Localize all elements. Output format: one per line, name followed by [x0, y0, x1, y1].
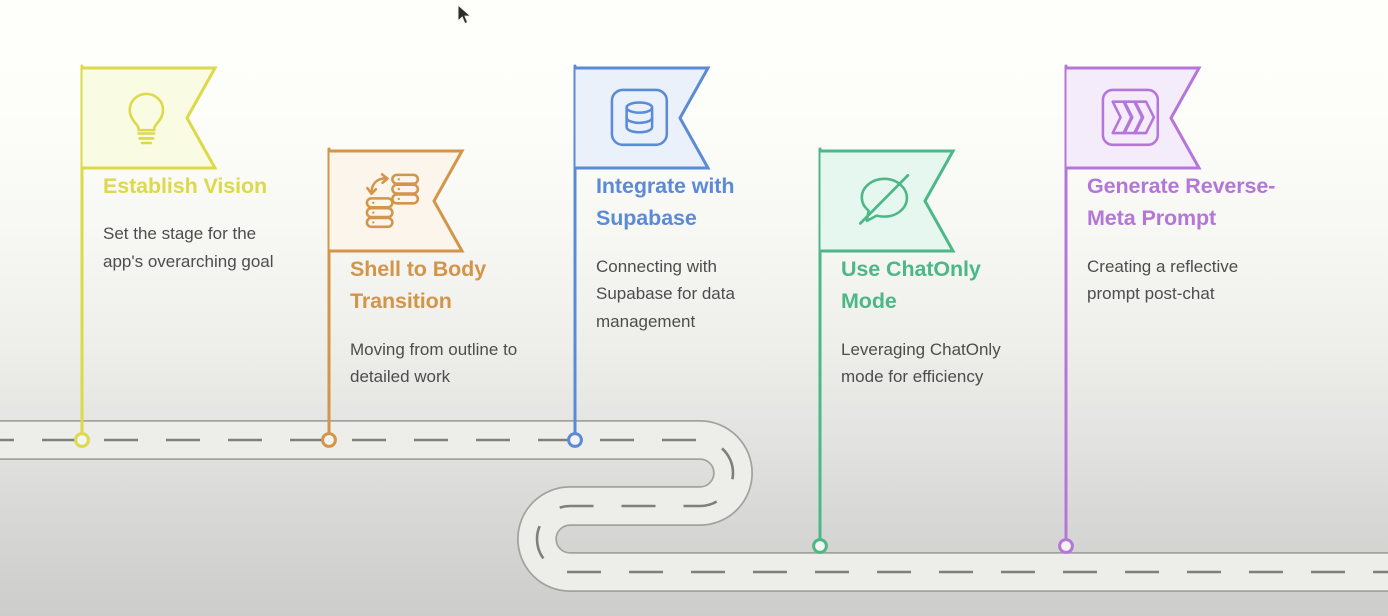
milestone-description: Creating a reflective prompt post-chat [1065, 253, 1280, 308]
milestone-description: Connecting with Supabase for data manage… [574, 253, 789, 336]
milestone-title: Use ChatOnly Mode [819, 253, 1034, 318]
road-marker[interactable] [323, 434, 336, 447]
milestone-use-chatonly-mode[interactable]: Use ChatOnly ModeLeveraging ChatOnly mod… [819, 149, 1034, 391]
milestone-establish-vision[interactable]: Establish VisionSet the stage for the ap… [81, 66, 296, 275]
flag-generate-reverse-meta-prompt [1065, 66, 1280, 170]
milestone-shell-to-body-transition[interactable]: Shell to Body TransitionMoving from outl… [328, 149, 543, 391]
flag-establish-vision [81, 66, 296, 170]
spacer [328, 318, 543, 336]
milestone-description: Leveraging ChatOnly mode for efficiency [819, 336, 1034, 391]
spacer [819, 318, 1034, 336]
milestone-integrate-with-supabase[interactable]: Integrate with SupabaseConnecting with S… [574, 66, 789, 335]
flag-use-chatonly-mode [819, 149, 1034, 253]
milestone-description: Set the stage for the app's overarching … [81, 220, 296, 275]
milestone-generate-reverse-meta-prompt[interactable]: Generate Reverse-Meta PromptCreating a r… [1065, 66, 1280, 308]
road-marker[interactable] [569, 434, 582, 447]
milestone-description: Moving from outline to detailed work [328, 336, 543, 391]
milestone-title: Integrate with Supabase [574, 170, 789, 235]
road-marker[interactable] [1060, 540, 1073, 553]
flag-integrate-with-supabase [574, 66, 789, 170]
roadmap-canvas: Establish VisionSet the stage for the ap… [0, 0, 1388, 616]
road-marker[interactable] [814, 540, 827, 553]
road-marker[interactable] [76, 434, 89, 447]
spacer [1065, 235, 1280, 253]
milestone-title: Shell to Body Transition [328, 253, 543, 318]
milestone-title: Establish Vision [81, 170, 296, 202]
milestone-title: Generate Reverse-Meta Prompt [1065, 170, 1280, 235]
spacer [81, 202, 296, 220]
spacer [574, 235, 789, 253]
flag-shell-to-body-transition [328, 149, 543, 253]
